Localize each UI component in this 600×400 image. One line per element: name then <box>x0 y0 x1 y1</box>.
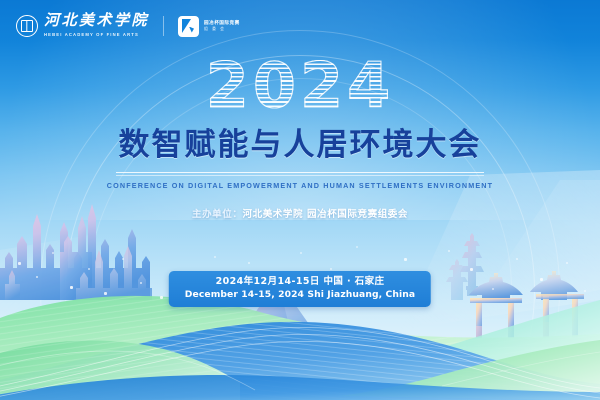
page-subtitle: CONFERENCE ON DIGITAL EMPOWERMENT AND HU… <box>0 181 600 190</box>
page-title: 数智赋能与人居环境大会 <box>0 128 600 164</box>
organizer-line: 主办单位：河北美术学院 园冶杯国际竞赛组委会 <box>0 206 600 220</box>
title-block: 数智赋能与人居环境大会 CONFERENCE ON DIGITAL EMPOWE… <box>0 128 600 190</box>
organizer-label: 主办单位： <box>192 209 243 220</box>
title-divider <box>116 172 484 176</box>
yuanye-cup-mark-icon <box>178 16 199 37</box>
conference-banner: 河北美术学院 HEBEI ACADEMY OF FINE ARTS 园冶杯国际竞… <box>0 0 600 400</box>
date-badge: 2024年12月14-15日 中国 · 石家庄 December 14-15, … <box>169 271 431 307</box>
hebei-academy-seal-icon <box>16 15 38 37</box>
partner-logo[interactable]: 园冶杯国际竞赛 组 委 会 <box>178 16 240 37</box>
university-name-cn: 河北美术学院 <box>44 14 149 30</box>
organizer-names: 河北美术学院 园冶杯国际竞赛组委会 <box>243 209 409 220</box>
partner-logo-text: 园冶杯国际竞赛 组 委 会 <box>204 20 240 33</box>
university-logo-text: 河北美术学院 HEBEI ACADEMY OF FINE ARTS <box>44 14 149 37</box>
logo-divider <box>163 16 164 36</box>
partner-name-cn: 园冶杯国际竞赛 <box>204 20 240 26</box>
year-block: 2024 <box>0 55 600 117</box>
date-text-cn: 2024年12月14-15日 中国 · 石家庄 <box>185 276 415 289</box>
partner-name-sub: 组 委 会 <box>204 27 240 32</box>
date-text-en: December 14-15, 2024 Shi Jiazhuang, Chin… <box>185 289 415 301</box>
banner-header: 河北美术学院 HEBEI ACADEMY OF FINE ARTS 园冶杯国际竞… <box>0 0 600 52</box>
university-logo[interactable]: 河北美术学院 HEBEI ACADEMY OF FINE ARTS <box>16 14 149 37</box>
year-text: 2024 <box>206 55 395 117</box>
university-name-en: HEBEI ACADEMY OF FINE ARTS <box>44 32 149 37</box>
